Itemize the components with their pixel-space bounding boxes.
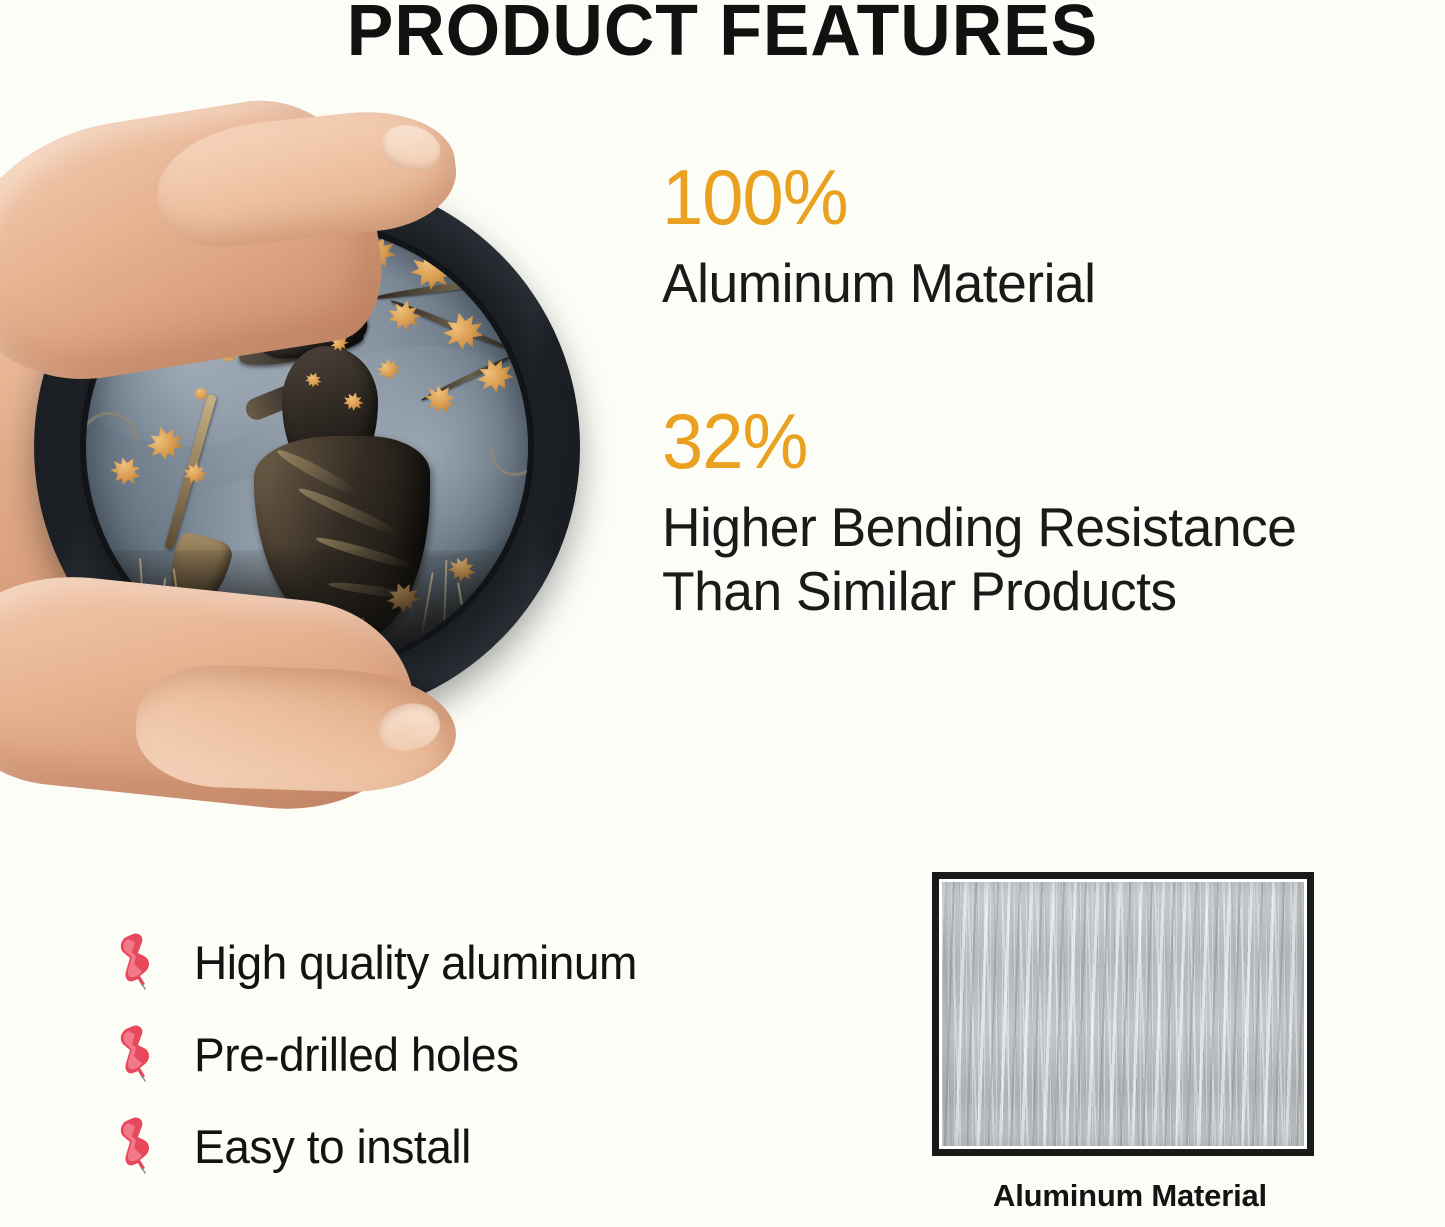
stat-label: Aluminum Material (662, 252, 1422, 316)
aluminum-swatch: Aluminum Material (932, 872, 1328, 1214)
pushpin-icon (112, 1115, 164, 1177)
stat-label-line: Than Similar Products (662, 560, 1422, 624)
list-item: Easy to install (112, 1100, 832, 1192)
product-photo (0, 108, 658, 780)
page-title: PRODUCT FEATURES (22, 0, 1424, 72)
stat-number: 32% (662, 402, 1406, 480)
stat-label: Higher Bending Resistance Than Similar P… (662, 496, 1422, 624)
stat-label-line: Higher Bending Resistance (662, 496, 1422, 560)
list-item: Pre-drilled holes (112, 1008, 832, 1100)
aluminum-swatch-frame (932, 872, 1314, 1156)
stat-label-line: Aluminum Material (662, 252, 1422, 316)
stat-block-aluminum: 100% Aluminum Material (662, 158, 1445, 316)
bullet-label: High quality aluminum (194, 939, 637, 986)
product-photo-stage (0, 108, 658, 780)
bullet-label: Pre-drilled holes (194, 1031, 518, 1078)
aluminum-swatch-caption: Aluminum Material (932, 1178, 1328, 1214)
stats-list: 100% Aluminum Material 32% Higher Bendin… (662, 158, 1445, 669)
pushpin-icon (112, 1023, 164, 1085)
stat-number: 100% (662, 158, 1406, 236)
pushpin-icon (112, 931, 164, 993)
list-item: High quality aluminum (112, 916, 832, 1008)
aluminum-texture (942, 882, 1304, 1146)
bullet-label: Easy to install (194, 1123, 471, 1170)
stat-block-bending: 32% Higher Bending Resistance Than Simil… (662, 402, 1445, 624)
feature-bullet-list: High quality aluminum Pre-drilled holes … (112, 916, 832, 1192)
